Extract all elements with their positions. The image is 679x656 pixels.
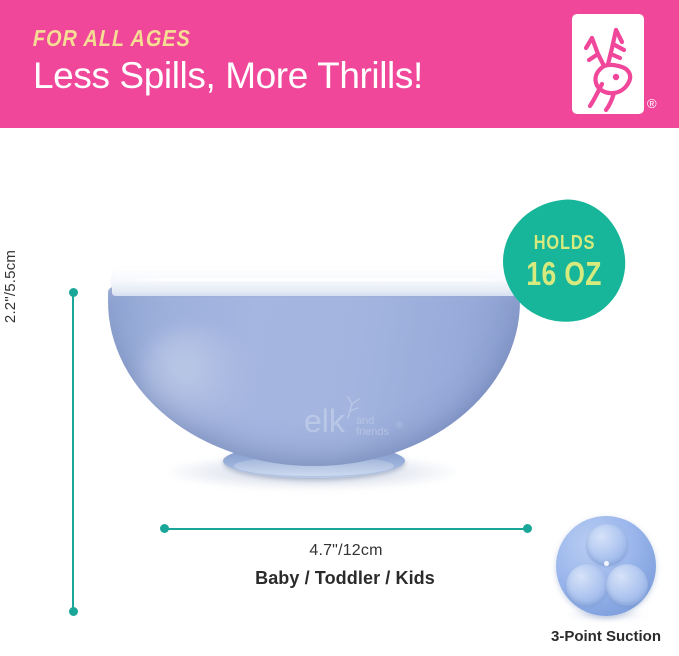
width-line [164, 528, 528, 530]
banner-headline: Less Spills, More Thrills! [33, 55, 533, 96]
elk-eye-icon [613, 74, 619, 80]
height-line [72, 292, 74, 612]
age-range-caption: Baby / Toddler / Kids [120, 568, 570, 589]
banner-eyebrow: For All Ages [33, 26, 464, 50]
suction-detail-inset: 3-Point Suction [545, 516, 667, 656]
svg-text:elk: elk [304, 403, 346, 439]
bowl-body: elk and friends ® [108, 286, 520, 466]
badge-label-holds: Holds [533, 233, 595, 253]
suction-center-highlight [604, 561, 609, 566]
height-dimension-line [70, 288, 76, 616]
product-stage: elk and friends ® Holds 16 oz [0, 128, 679, 656]
elk-head-icon [572, 14, 644, 114]
registered-trademark-mark: ® [647, 97, 657, 110]
width-endpoint-right-icon [523, 524, 532, 533]
suction-base-disc [556, 516, 656, 616]
capacity-badge: Holds 16 oz [503, 200, 625, 322]
badge-label-volume: 16 oz [526, 257, 601, 290]
svg-text:friends: friends [356, 426, 390, 438]
suction-caption: 3-Point Suction [533, 628, 679, 645]
header-banner: For All Ages Less Spills, More Thrills! [0, 0, 679, 128]
width-dimension-line: 4.7"/12cm [160, 524, 532, 534]
badge-text-group: Holds 16 oz [503, 200, 625, 322]
height-endpoint-top-icon [69, 288, 78, 297]
bowl-lid [112, 268, 516, 296]
svg-text:®: ® [396, 420, 403, 430]
brand-logo-card [572, 14, 644, 114]
embossed-brand-logo: elk and friends ® [304, 392, 424, 446]
height-dimension-label: 2.2"/5.5cm [2, 250, 19, 323]
height-endpoint-bottom-icon [69, 607, 78, 616]
suction-bowl-image: elk and friends ® [108, 268, 520, 503]
banner-text-group: For All Ages Less Spills, More Thrills! [33, 26, 533, 97]
bowl-highlight [134, 326, 254, 446]
suction-cup [606, 564, 648, 606]
suction-cup [586, 524, 628, 566]
width-dimension-label: 4.7"/12cm [160, 542, 532, 560]
width-endpoint-left-icon [160, 524, 169, 533]
bowl-lid-seam [122, 278, 514, 281]
suction-cup [566, 564, 608, 606]
